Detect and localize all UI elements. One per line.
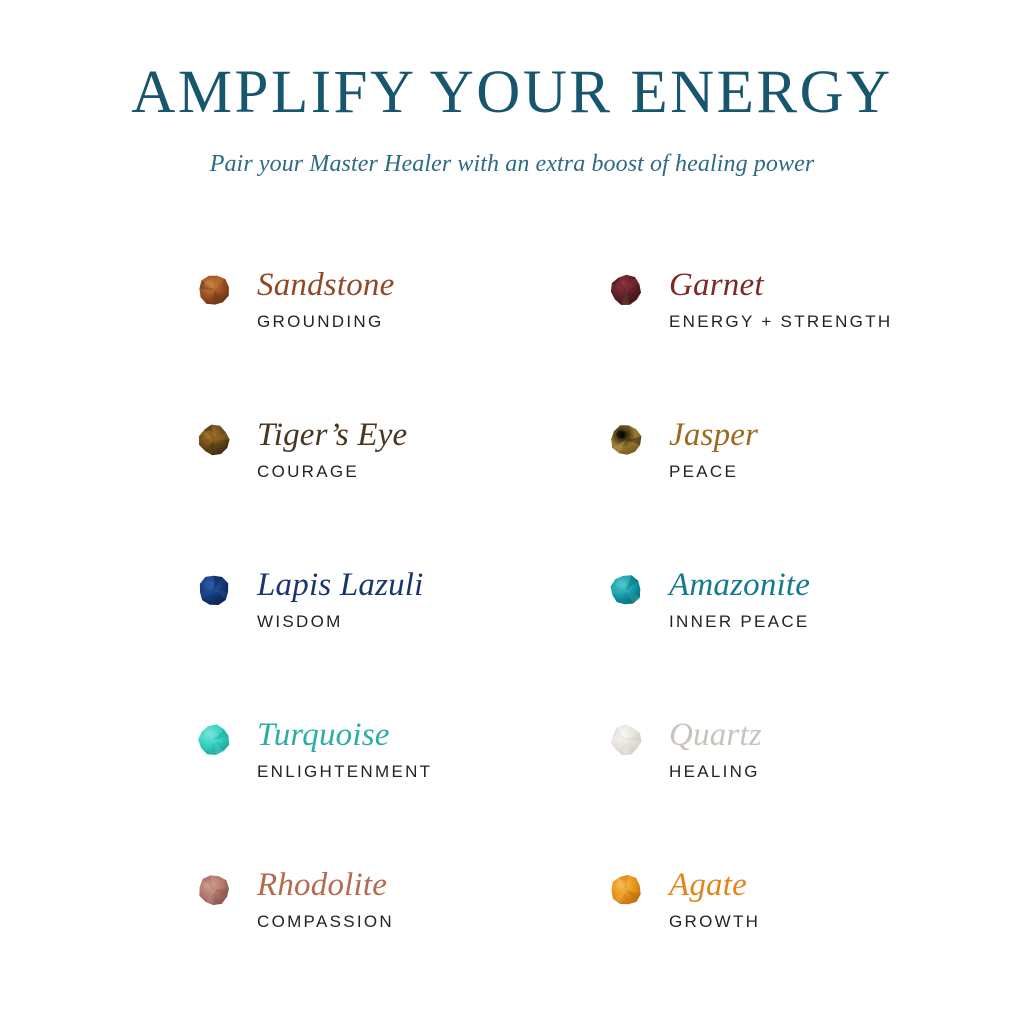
- stone-text: QuartzHEALING: [669, 716, 1021, 782]
- stone-attribute: ENERGY + STRENGTH: [669, 312, 1021, 332]
- stone-name: Agate: [669, 866, 1021, 904]
- stone-attribute: COURAGE: [257, 462, 609, 482]
- stone-attribute: INNER PEACE: [669, 612, 1021, 632]
- stone-text: TurquoiseENLIGHTENMENT: [257, 716, 609, 782]
- stone-item-agate[interactable]: AgateGROWTH: [609, 866, 1021, 1016]
- stone-name: Jasper: [669, 416, 1021, 454]
- stone-name: Sandstone: [257, 266, 609, 304]
- stone-text: AgateGROWTH: [669, 866, 1021, 932]
- rhodolite-bead-icon: [197, 866, 233, 907]
- quartz-bead-icon: [609, 716, 645, 757]
- header: AMPLIFY YOUR ENERGY Pair your Master Hea…: [0, 62, 1024, 178]
- stone-name: Turquoise: [257, 716, 609, 754]
- stone-attribute: ENLIGHTENMENT: [257, 762, 609, 782]
- stone-attribute: HEALING: [669, 762, 1021, 782]
- stone-item-quartz[interactable]: QuartzHEALING: [609, 716, 1021, 866]
- stone-item-lapis-lazuli[interactable]: Lapis LazuliWISDOM: [197, 566, 609, 716]
- jasper-bead-icon: [609, 416, 645, 457]
- stone-name: Lapis Lazuli: [257, 566, 609, 604]
- stone-name: Rhodolite: [257, 866, 609, 904]
- stone-grid: SandstoneGROUNDINGGarnetENERGY + STRENGT…: [197, 266, 957, 1016]
- stone-attribute: GROUNDING: [257, 312, 609, 332]
- stone-text: GarnetENERGY + STRENGTH: [669, 266, 1021, 332]
- stone-name: Amazonite: [669, 566, 1021, 604]
- promo-graphic: AMPLIFY YOUR ENERGY Pair your Master Hea…: [0, 0, 1024, 1024]
- stone-text: Tiger’s EyeCOURAGE: [257, 416, 609, 482]
- stone-text: Lapis LazuliWISDOM: [257, 566, 609, 632]
- stone-attribute: PEACE: [669, 462, 1021, 482]
- stone-text: RhodoliteCOMPASSION: [257, 866, 609, 932]
- stone-text: AmazoniteINNER PEACE: [669, 566, 1021, 632]
- lapis-lazuli-bead-icon: [197, 566, 233, 607]
- stone-item-turquoise[interactable]: TurquoiseENLIGHTENMENT: [197, 716, 609, 866]
- page-subtitle: Pair your Master Healer with an extra bo…: [0, 151, 1024, 178]
- stone-item-sandstone[interactable]: SandstoneGROUNDING: [197, 266, 609, 416]
- stone-item-tiger-s-eye[interactable]: Tiger’s EyeCOURAGE: [197, 416, 609, 566]
- stone-text: JasperPEACE: [669, 416, 1021, 482]
- agate-bead-icon: [609, 866, 645, 907]
- sandstone-bead-icon: [197, 266, 233, 307]
- stone-name: Quartz: [669, 716, 1021, 754]
- stone-text: SandstoneGROUNDING: [257, 266, 609, 332]
- page-title: AMPLIFY YOUR ENERGY: [0, 62, 1024, 123]
- stone-item-amazonite[interactable]: AmazoniteINNER PEACE: [609, 566, 1021, 716]
- stone-item-garnet[interactable]: GarnetENERGY + STRENGTH: [609, 266, 1021, 416]
- stone-attribute: GROWTH: [669, 912, 1021, 932]
- stone-attribute: COMPASSION: [257, 912, 609, 932]
- amazonite-bead-icon: [609, 566, 645, 607]
- tigers-eye-bead-icon: [197, 416, 233, 457]
- garnet-bead-icon: [609, 266, 645, 307]
- stone-item-rhodolite[interactable]: RhodoliteCOMPASSION: [197, 866, 609, 1016]
- stone-attribute: WISDOM: [257, 612, 609, 632]
- stone-item-jasper[interactable]: JasperPEACE: [609, 416, 1021, 566]
- stone-name: Tiger’s Eye: [257, 416, 609, 454]
- turquoise-bead-icon: [197, 716, 233, 757]
- stone-name: Garnet: [669, 266, 1021, 304]
